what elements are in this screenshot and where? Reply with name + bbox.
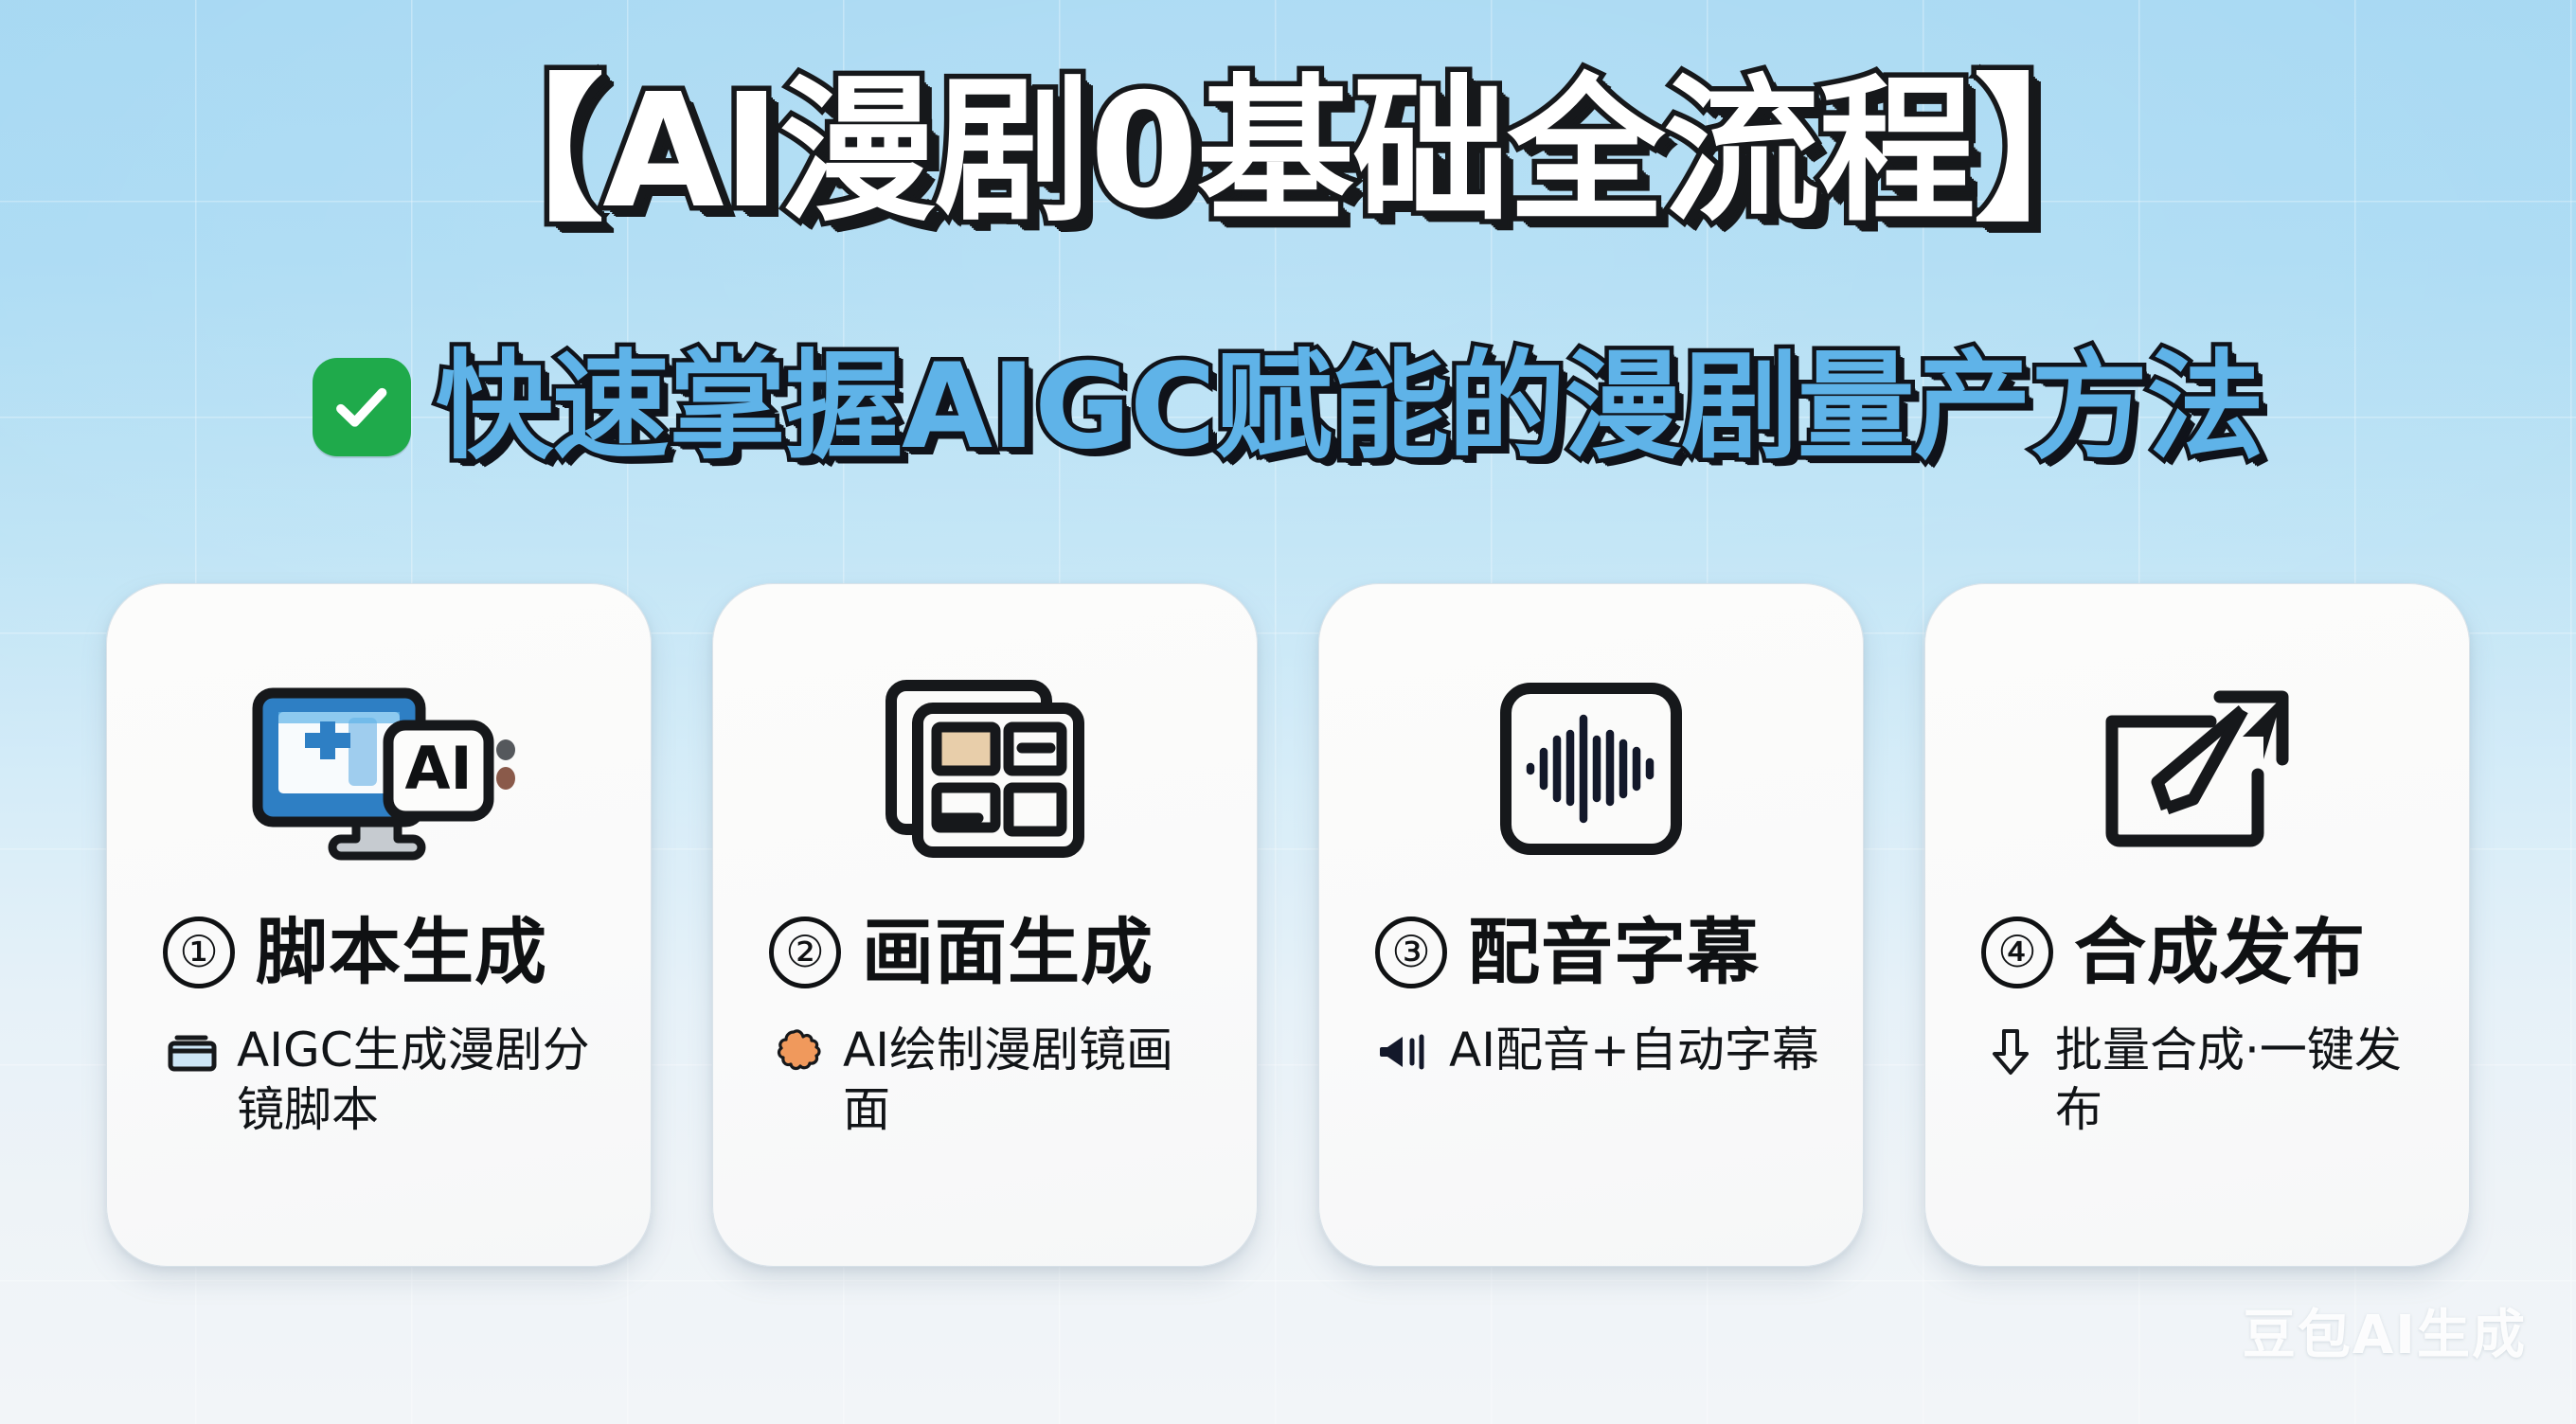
card-description: AIGC生成漫剧分镜脚本 bbox=[237, 1021, 608, 1140]
svg-text:AI: AI bbox=[404, 734, 472, 803]
card-description: AI配音+自动字幕 bbox=[1449, 1021, 1819, 1080]
card-description: 批量合成·一键发布 bbox=[2055, 1021, 2426, 1140]
step-number-badge: ② bbox=[769, 917, 841, 988]
header-section: 【AI漫剧0基础全流程】 快速掌握AIGC赋能的漫剧量产方法 bbox=[0, 0, 2576, 530]
card-description-row: AI绘制漫剧镜画面 bbox=[748, 1021, 1222, 1140]
watermark-label: 豆包AI生成 bbox=[2243, 1292, 2527, 1369]
step-card-3[interactable]: ③ 配音字幕 AI配音+自动字幕 bbox=[1318, 583, 1864, 1267]
audio-waveform-icon bbox=[1354, 674, 1828, 863]
download-arrow-icon bbox=[1983, 1024, 2038, 1079]
card-description-row: AIGC生成漫剧分镜脚本 bbox=[142, 1021, 616, 1140]
card-title-row: ③ 配音字幕 bbox=[1354, 917, 1828, 988]
subtitle-row: 快速掌握AIGC赋能的漫剧量产方法 bbox=[0, 348, 2576, 466]
page-title: 【AI漫剧0基础全流程】 bbox=[0, 74, 2576, 231]
card-description-row: AI配音+自动字幕 bbox=[1354, 1021, 1828, 1080]
orange-splat-icon bbox=[771, 1024, 826, 1079]
steps-card-row: AI ① 脚本生成 AIGC生成漫剧分镜脚本 bbox=[106, 583, 2470, 1267]
step-number-badge: ① bbox=[163, 917, 235, 988]
monitor-ai-icon: AI bbox=[142, 674, 616, 863]
storyboard-layout-icon bbox=[748, 674, 1222, 863]
step-card-2[interactable]: ② 画面生成 AI绘制漫剧镜画面 bbox=[712, 583, 1258, 1267]
card-description-row: 批量合成·一键发布 bbox=[1960, 1021, 2434, 1140]
card-title-row: ② 画面生成 bbox=[748, 917, 1222, 988]
card-title-row: ④ 合成发布 bbox=[1960, 917, 2434, 988]
card-box-icon bbox=[165, 1024, 220, 1079]
page-subtitle: 快速掌握AIGC赋能的漫剧量产方法 bbox=[436, 348, 2263, 466]
card-title-row: ① 脚本生成 bbox=[142, 917, 616, 988]
check-circle-icon bbox=[313, 358, 411, 456]
card-description: AI绘制漫剧镜画面 bbox=[843, 1021, 1214, 1140]
card-title: 脚本生成 bbox=[256, 917, 547, 988]
card-title: 画面生成 bbox=[862, 917, 1154, 988]
export-arrow-icon bbox=[1960, 674, 2434, 863]
step-number-badge: ③ bbox=[1375, 917, 1447, 988]
card-title: 配音字幕 bbox=[1468, 917, 1760, 988]
step-card-1[interactable]: AI ① 脚本生成 AIGC生成漫剧分镜脚本 bbox=[106, 583, 652, 1267]
step-number-badge: ④ bbox=[1981, 917, 2053, 988]
speaker-volume-icon bbox=[1377, 1024, 1432, 1079]
card-title: 合成发布 bbox=[2074, 917, 2366, 988]
step-card-4[interactable]: ④ 合成发布 批量合成·一键发布 bbox=[1924, 583, 2470, 1267]
